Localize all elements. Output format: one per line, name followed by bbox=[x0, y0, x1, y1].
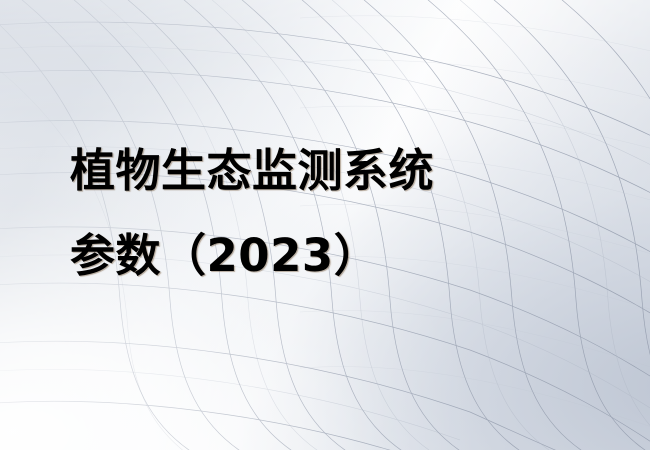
slide-title: 植物生态监测系统 参数（2023） bbox=[70, 128, 610, 298]
slide-title-line-1: 植物生态监测系统 bbox=[70, 128, 610, 213]
title-slide: 植物生态监测系统 参数（2023） bbox=[0, 0, 650, 450]
slide-title-line-2: 参数（2023） bbox=[70, 213, 610, 298]
